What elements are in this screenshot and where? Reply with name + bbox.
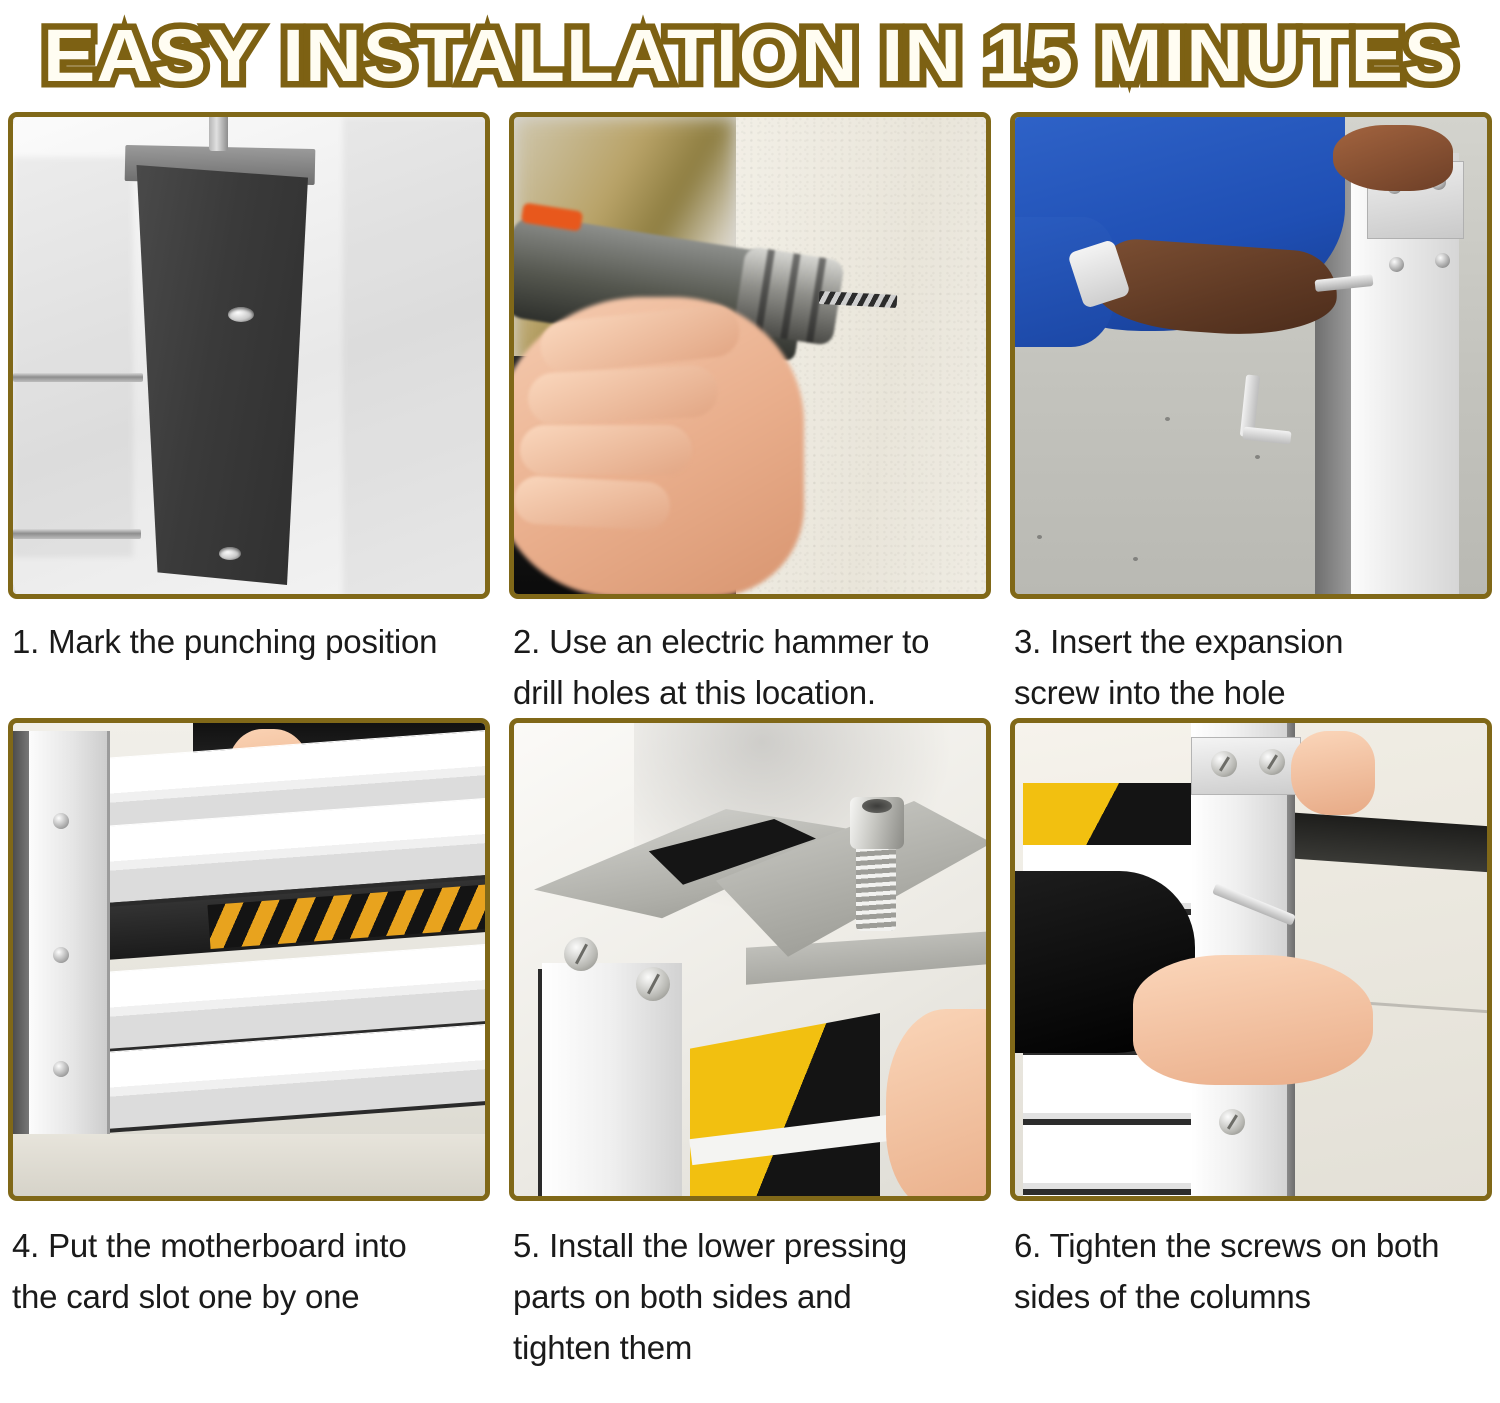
column-base-plate: [133, 165, 308, 585]
step-caption-1: 1. Mark the punching position: [8, 599, 490, 717]
step-card-3: 3. Insert the expansion screw into the h…: [1010, 112, 1492, 718]
finger: [520, 425, 692, 475]
installer-upper-hand: [1291, 731, 1375, 815]
column-top-plate: [1191, 737, 1301, 795]
cloth-fold: [343, 117, 490, 597]
drill-hole-lower: [219, 547, 241, 560]
photo-tighten-column-screws: [1010, 718, 1492, 1201]
mounting-rod-upper: [13, 373, 143, 382]
finger: [513, 475, 671, 531]
plate-screw: [1435, 253, 1450, 268]
slotted-column: [29, 731, 110, 1201]
floor-strip: [13, 1134, 485, 1196]
thumb-bolt-thread: [856, 839, 896, 931]
installer-hand: [1133, 955, 1373, 1085]
page-title: EASY INSTALLATION IN 15 MINUTES: [39, 16, 1462, 96]
step-caption-3: 3. Insert the expansion screw into the h…: [1010, 599, 1492, 718]
step-card-6: 6. Tighten the screws on both sides of t…: [1010, 718, 1492, 1373]
bracket-screw: [636, 967, 670, 1001]
step-caption-6: 6. Tighten the screws on both sides of t…: [1010, 1201, 1492, 1322]
photo-install-pressing-parts: [509, 718, 991, 1201]
drill-hole-upper: [228, 307, 254, 322]
step-card-2: 2. Use an electric hammer to drill holes…: [509, 112, 991, 718]
installer-hand: [886, 1009, 991, 1201]
top-plate-screw: [1211, 751, 1237, 777]
finger: [527, 364, 719, 426]
thumb-bolt-bore: [862, 799, 892, 813]
step-caption-5: 5. Install the lower pressing parts on b…: [509, 1201, 991, 1373]
column-screw: [53, 1061, 69, 1077]
step-caption-4: 4. Put the motherboard into the card slo…: [8, 1201, 490, 1322]
mounting-rod-lower: [13, 529, 141, 539]
header-banner: EASY INSTALLATION IN 15 MINUTES: [0, 0, 1500, 112]
column-screw: [53, 813, 69, 829]
column-side-screw: [1219, 1109, 1245, 1135]
steps-row-bottom: 4. Put the motherboard into the card slo…: [8, 718, 1492, 1373]
steps-row-top: 1. Mark the punching position: [8, 112, 1492, 718]
photo-insert-boards-card-slot: [8, 718, 490, 1201]
photo-mark-punching-position: [8, 112, 490, 599]
worker-upper-hand: [1333, 125, 1453, 191]
top-bolt-shaft: [209, 112, 228, 151]
photo-insert-expansion-screw: [1010, 112, 1492, 599]
step-card-4: 4. Put the motherboard into the card slo…: [8, 718, 490, 1373]
column-screw: [53, 947, 69, 963]
plate-screw: [1389, 257, 1404, 272]
step-card-5: 5. Install the lower pressing parts on b…: [509, 718, 991, 1373]
cloth-fold: [13, 157, 133, 557]
top-plate-screw: [1259, 749, 1285, 775]
step-card-1: 1. Mark the punching position: [8, 112, 490, 718]
hazard-stripe: [1023, 783, 1199, 845]
bracket-screw: [564, 937, 598, 971]
photo-drill-holes: [509, 112, 991, 599]
step-caption-2: 2. Use an electric hammer to drill holes…: [509, 599, 991, 718]
